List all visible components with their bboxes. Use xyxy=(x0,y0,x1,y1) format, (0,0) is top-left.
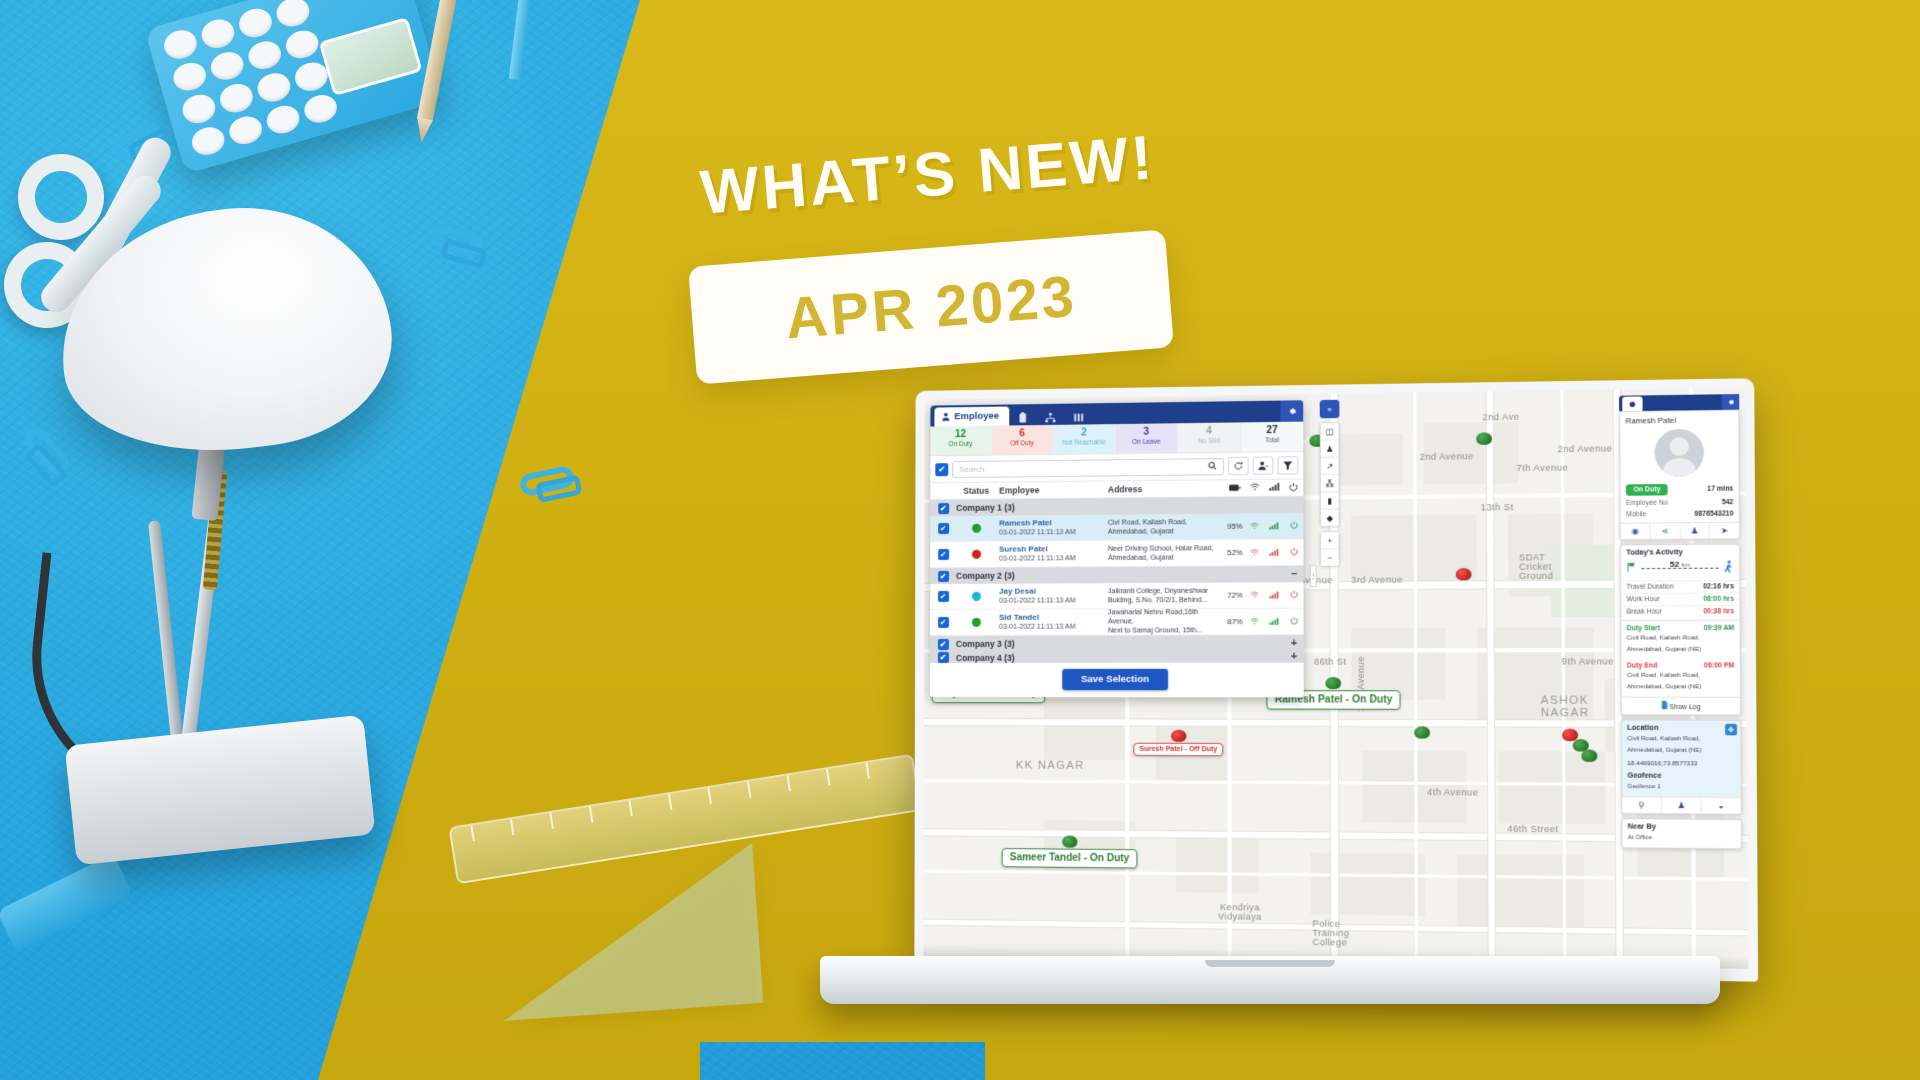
group-row-company-3[interactable]: ✔ Company 3 (3) + xyxy=(930,635,1304,652)
stat-count: 3 xyxy=(1116,426,1177,438)
group-label: Company 4 (3) xyxy=(956,652,1015,662)
map-pin-marker-icon xyxy=(1456,568,1472,580)
employee-address-line2: Buiding, S.No. 70/2/1, Behind... xyxy=(1108,595,1225,605)
map-label: 7th Avenue xyxy=(1516,462,1568,473)
panel-drag-handle[interactable]: ⋮ xyxy=(1310,565,1317,587)
profile-card: Ramesh Patel On Duty 17 mins Employee No… xyxy=(1619,410,1740,541)
stat-total[interactable]: 27 Total xyxy=(1241,422,1303,452)
cluster-icon[interactable]: ⁂ xyxy=(1320,474,1340,491)
break-hour-label: Break Hour xyxy=(1627,608,1662,615)
break-hour-value: 00:38 hrs xyxy=(1703,608,1734,615)
laptop-base xyxy=(820,956,1720,1004)
add-person-icon[interactable] xyxy=(1253,456,1274,474)
battery-percent: 52% xyxy=(1225,548,1245,557)
map-pin-marker-icon xyxy=(1062,835,1077,847)
group-label: Company 1 (3) xyxy=(956,502,1015,513)
stat-count: 4 xyxy=(1178,425,1240,437)
headline-date: APR 2023 xyxy=(783,262,1079,352)
status-badge xyxy=(971,618,980,627)
map-label: 2nd Ave xyxy=(1482,412,1519,423)
stat-label: On Duty xyxy=(930,440,990,450)
employee-no-value: 542 xyxy=(1722,499,1734,506)
table-row[interactable]: ✔ Ramesh Patel 03-01-2022 11:11:13 AM Ci… xyxy=(930,513,1303,542)
tab-employee[interactable]: Employee xyxy=(934,406,1009,426)
employee-address-line1: Jaikranti College, Dnyaneshwar xyxy=(1108,586,1225,596)
employee-panel: Employee xyxy=(930,400,1304,697)
gear-icon[interactable] xyxy=(1722,394,1739,410)
place-marker-icon[interactable]: ⚲ xyxy=(1622,797,1662,813)
employee-address-line1: Neer Driving School, Halar Road, xyxy=(1108,544,1225,554)
duty-start-label: Duty Start xyxy=(1627,625,1660,632)
zoom-out-button[interactable]: − xyxy=(1320,548,1340,565)
stat-label: Not Reachable xyxy=(1053,438,1114,448)
expand-icon[interactable]: ✥ xyxy=(1725,724,1737,736)
filter-icon[interactable] xyxy=(1277,456,1298,474)
map-control-rail: » ◫ ♟ ↗ ⁂ ▮ ◆ + − xyxy=(1320,400,1340,571)
map-pin-suresh-patel[interactable]: Suresh Patel - Off Duty xyxy=(1133,730,1223,757)
duty-end-address-line1: Civil Road, Kailash Road, xyxy=(1622,672,1740,683)
location-action-bar: ⚲ ♟ ◒ xyxy=(1622,796,1741,813)
employee-timestamp: 03-01-2022 11:11:13 AM xyxy=(999,528,1105,538)
activity-title: Today’s Activity xyxy=(1621,545,1739,560)
group-checkbox[interactable]: ✔ xyxy=(937,638,948,649)
wifi-icon xyxy=(1245,483,1265,493)
map-pin-cluster[interactable] xyxy=(1581,749,1597,763)
stat-label: On Leave xyxy=(1116,437,1177,447)
person-location-icon[interactable]: ♟ xyxy=(1662,798,1702,814)
search-toolbar: ✔ Search xyxy=(930,452,1303,482)
status-badge: On Duty xyxy=(1626,484,1668,496)
route-icon[interactable]: ↗ xyxy=(1320,457,1340,475)
stat-label: Total xyxy=(1241,436,1303,446)
save-selection-bar: Save Selection xyxy=(930,663,1304,698)
distance-row: 52 km xyxy=(1621,559,1739,580)
clipboard-icon[interactable] xyxy=(1009,410,1036,425)
stat-label: No SIM xyxy=(1178,437,1240,447)
save-selection-button[interactable]: Save Selection xyxy=(1063,669,1168,690)
stat-no-sim[interactable]: 4 No SIM xyxy=(1178,422,1241,452)
group-row-company-4[interactable]: ✔ Company 4 (3) + xyxy=(930,651,1304,663)
flag-icon xyxy=(1626,562,1637,574)
tab-employee-label: Employee xyxy=(954,411,999,423)
geofence-value: Geofence 1 xyxy=(1622,783,1741,797)
duty-start-row: Duty Start 09:39 AM xyxy=(1621,620,1739,635)
power-icon xyxy=(1284,482,1304,493)
group-label: Company 3 (3) xyxy=(956,639,1015,649)
signal-icon xyxy=(1264,547,1284,557)
header-status: Status xyxy=(956,486,996,496)
group-checkbox[interactable]: ✔ xyxy=(938,570,949,581)
work-hour-label: Work Hour xyxy=(1626,596,1659,603)
nearby-title: Near By xyxy=(1622,819,1741,834)
stat-count: 2 xyxy=(1053,427,1114,439)
group-expand-icon[interactable]: + xyxy=(1291,651,1304,662)
search-placeholder: Search xyxy=(959,464,984,473)
calculator-keys xyxy=(161,0,340,159)
wifi-icon xyxy=(1245,521,1265,531)
activity-row: Break Hour 00:38 hrs xyxy=(1621,605,1739,620)
geofence-title: Geofence xyxy=(1622,770,1741,783)
zoom-in-button[interactable]: + xyxy=(1320,531,1340,548)
signal-icon xyxy=(1264,521,1284,531)
share-icon[interactable]: ⋖ xyxy=(1650,523,1680,539)
row-checkbox[interactable]: ✔ xyxy=(938,523,949,534)
profile-name: Ramesh Patel xyxy=(1620,411,1738,428)
nearby-value: At Office xyxy=(1622,834,1741,849)
map-zoom-group: + − xyxy=(1320,531,1340,566)
status-badge xyxy=(971,592,980,601)
map-label: Police Training College xyxy=(1312,919,1364,947)
tag-icon[interactable]: ◆ xyxy=(1320,509,1340,526)
battery-percent: 87% xyxy=(1225,617,1245,626)
show-log-label: Show Log xyxy=(1669,704,1700,711)
stat-on-leave[interactable]: 3 On Leave xyxy=(1116,423,1179,453)
elapsed-time: 17 mins xyxy=(1707,485,1733,493)
power-icon xyxy=(1284,616,1304,626)
employee-name: Jay Desai xyxy=(999,586,1105,597)
map-label: SDAT Cricket Ground xyxy=(1519,553,1574,581)
header-employee: Employee xyxy=(996,485,1105,496)
map-pin-sameer-tandel[interactable]: Sameer Tandel - On Duty xyxy=(1002,835,1138,869)
signal-icon xyxy=(1264,483,1284,493)
laptop-lid: KK NAGAR ASHOK NAGAR SDAT Cricket Ground… xyxy=(914,378,1758,981)
table-row[interactable]: ✔ Suresh Patel 03-01-2022 11:11:13 AM Ne… xyxy=(930,539,1303,568)
nearby-card: Near By At Office xyxy=(1621,818,1742,849)
status-badge xyxy=(972,524,981,533)
duty-end-value: 06:00 PM xyxy=(1704,662,1734,669)
employee-no-label: Employee No xyxy=(1626,500,1668,508)
map-pin-marker-icon xyxy=(1414,726,1430,738)
map-label: 2nd Avenue xyxy=(1420,451,1474,462)
map-label: Kendriya Vidyalaya xyxy=(1217,903,1262,922)
distance-value: 52 km xyxy=(1670,559,1691,568)
stat-count: 6 xyxy=(992,428,1053,440)
map-label: ASHOK NAGAR xyxy=(1541,694,1605,719)
status-stats-bar: 12 On Duty 6 Off Duty 2 Not Reachable xyxy=(930,422,1303,457)
layers-icon[interactable]: ◒ xyxy=(1702,798,1741,814)
map-label: 86th St xyxy=(1314,657,1347,667)
employee-name: Suresh Patel xyxy=(999,544,1105,555)
map-label: 9th Avenue xyxy=(1562,656,1614,666)
laptop-screen: KK NAGAR ASHOK NAGAR SDAT Cricket Ground… xyxy=(923,388,1748,969)
map-pin-marker-icon xyxy=(1326,677,1342,689)
wifi-icon xyxy=(1245,547,1265,557)
duty-end-label: Duty End xyxy=(1627,662,1658,669)
group-checkbox[interactable]: ✔ xyxy=(938,503,949,514)
duty-start-address-line2: Ahmedabad, Gujarat (NE) xyxy=(1621,646,1739,661)
employee-timestamp: 03-01-2022 11:11:13 AM xyxy=(999,622,1105,631)
duty-end-address-line2: Ahmedabad, Gujarat (NE) xyxy=(1622,683,1740,697)
power-icon xyxy=(1284,547,1304,557)
map-label: 13th St xyxy=(1481,502,1514,513)
select-all-checkbox[interactable]: ✔ xyxy=(935,463,948,476)
person-pin-icon[interactable]: ♟ xyxy=(1680,523,1710,539)
header-address: Address xyxy=(1105,483,1225,494)
refresh-icon[interactable] xyxy=(1228,457,1249,475)
set-square-prop xyxy=(493,843,764,1021)
battery-percent: 95% xyxy=(1225,522,1245,531)
location-card: ✥ Location Civil Road, Kailash Road, Ahm… xyxy=(1621,719,1742,814)
power-icon xyxy=(1284,590,1304,600)
employee-address-line1: Jawaharlal Nehru Road,16th Avenue, xyxy=(1108,608,1225,627)
row-checkbox[interactable]: ✔ xyxy=(938,617,949,628)
signal-icon xyxy=(1264,616,1284,626)
employee-name: Sid Tandel xyxy=(999,612,1105,622)
employee-timestamp: 03-01-2022 11:11:13 AM xyxy=(999,554,1105,564)
wifi-icon xyxy=(1245,616,1265,626)
stat-on-duty[interactable]: 12 On Duty xyxy=(930,426,991,456)
search-icon[interactable] xyxy=(1208,461,1217,472)
person-icon xyxy=(941,412,950,421)
laptop-mockup: KK NAGAR ASHOK NAGAR SDAT Cricket Ground… xyxy=(820,390,1720,1010)
map-pin-cluster[interactable] xyxy=(1414,726,1430,739)
map-label: 4th Avenue xyxy=(1427,787,1479,798)
map-pin-marker-icon xyxy=(1476,432,1492,444)
employee-address-line2: Ahmedabad, Gujarat xyxy=(1108,526,1225,536)
group-row-company-2[interactable]: ✔ Company 2 (3) – xyxy=(930,566,1303,584)
map-pin-label: Suresh Patel - Off Duty xyxy=(1133,743,1223,757)
map-pin-marker-icon xyxy=(1171,730,1186,742)
stat-label: Off Duty xyxy=(992,439,1053,449)
detail-tab-profile[interactable] xyxy=(1622,396,1642,411)
show-log-button[interactable]: Show Log xyxy=(1622,697,1741,715)
avatar xyxy=(1654,429,1704,477)
employee-timestamp: 03-01-2022 11:11:13 AM xyxy=(999,596,1105,605)
row-checkbox[interactable]: ✔ xyxy=(938,591,949,602)
duty-end-row: Duty End 06:00 PM xyxy=(1621,660,1739,672)
map-pin-cluster[interactable] xyxy=(1456,568,1472,581)
map-pin-label: Sameer Tandel - On Duty xyxy=(1002,848,1138,868)
map-tool-group: ◫ ♟ ↗ ⁂ ▮ ◆ xyxy=(1320,422,1340,526)
eye-icon[interactable]: ◉ xyxy=(1621,523,1651,539)
org-chart-icon[interactable] xyxy=(1036,411,1064,425)
travel-duration-label: Travel Duration xyxy=(1626,583,1673,590)
status-badge xyxy=(972,550,981,559)
collapse-right-icon[interactable]: » xyxy=(1320,400,1340,419)
detail-panel: Ramesh Patel On Duty 17 mins Employee No… xyxy=(1619,394,1742,854)
calculator-display xyxy=(319,17,423,96)
map-label: KK NAGAR xyxy=(1016,759,1085,771)
stat-not-reachable[interactable]: 2 Not Reachable xyxy=(1053,424,1115,454)
location-address-line1: Civil Road, Kailash Road, xyxy=(1622,735,1741,747)
activity-row: Travel Duration 02:16 hrs xyxy=(1621,580,1739,593)
activity-card: Today’s Activity 52 km xyxy=(1620,544,1741,716)
walking-icon xyxy=(1723,560,1734,575)
stat-off-duty[interactable]: 6 Off Duty xyxy=(992,425,1054,455)
group-checkbox[interactable]: ✔ xyxy=(937,652,948,663)
map-pin-marker-icon xyxy=(1581,749,1597,762)
map-label: 2nd Avenue xyxy=(1558,443,1613,454)
columns-icon[interactable] xyxy=(1064,410,1092,424)
measure-icon[interactable]: ◫ xyxy=(1320,422,1340,440)
pin-icon[interactable]: ▮ xyxy=(1320,491,1340,508)
map-label: 3rd Avenue xyxy=(1351,575,1402,585)
stat-count: 12 xyxy=(930,429,990,441)
location-coordinates: 18.4469016,73.8577333 xyxy=(1622,758,1741,771)
map-pin-cluster[interactable] xyxy=(1476,432,1492,446)
row-checkbox[interactable]: ✔ xyxy=(938,549,949,560)
mobile-value: 9876543210 xyxy=(1694,510,1733,518)
employee-address-line2: Next to Samaj Ground, 15th... xyxy=(1108,626,1225,635)
location-title: Location xyxy=(1622,720,1741,735)
group-collapse-icon[interactable]: – xyxy=(1291,568,1304,579)
duty-start-address-line1: Civil Road, Kailash Road, xyxy=(1621,634,1739,646)
group-expand-icon[interactable]: + xyxy=(1291,638,1304,649)
distance-track: 52 km xyxy=(1641,567,1718,568)
gear-icon[interactable] xyxy=(1280,400,1303,422)
location-address-line2: Ahmedabad, Gujarat (NE) xyxy=(1622,746,1741,758)
profile-action-bar: ◉ ⋖ ♟ ➤ xyxy=(1621,522,1739,539)
table-row[interactable]: ✔ Sid Tandel 03-01-2022 11:11:13 AM Jawa… xyxy=(930,609,1304,636)
group-label: Company 2 (3) xyxy=(956,571,1015,581)
duty-start-value: 09:39 AM xyxy=(1704,625,1735,632)
signal-icon xyxy=(1264,590,1284,600)
travel-duration-value: 02:16 hrs xyxy=(1703,583,1734,590)
stat-count: 27 xyxy=(1241,425,1303,437)
wifi-icon xyxy=(1245,590,1265,600)
battery-percent: 72% xyxy=(1225,591,1245,600)
person-track-icon[interactable]: ♟ xyxy=(1320,439,1340,457)
activity-row: Work Hour 08:00 hrs xyxy=(1621,592,1739,605)
battery-icon xyxy=(1225,483,1245,493)
detail-tabbar xyxy=(1619,394,1739,411)
employee-address-line2: Ahmedabad, Gujarat xyxy=(1108,553,1225,563)
mobile-label: Mobile xyxy=(1626,511,1647,518)
map-label: 46th Street xyxy=(1507,824,1558,835)
power-icon xyxy=(1284,521,1304,531)
table-row[interactable]: ✔ Jay Desai 03-01-2022 11:11:13 AM Jaikr… xyxy=(930,582,1303,610)
work-hour-value: 08:00 hrs xyxy=(1703,596,1734,603)
navigate-icon[interactable]: ➤ xyxy=(1710,523,1739,539)
poster-stage: WHAT’S NEW! APR 2023 xyxy=(0,0,1920,1080)
search-input[interactable]: Search xyxy=(952,458,1224,478)
